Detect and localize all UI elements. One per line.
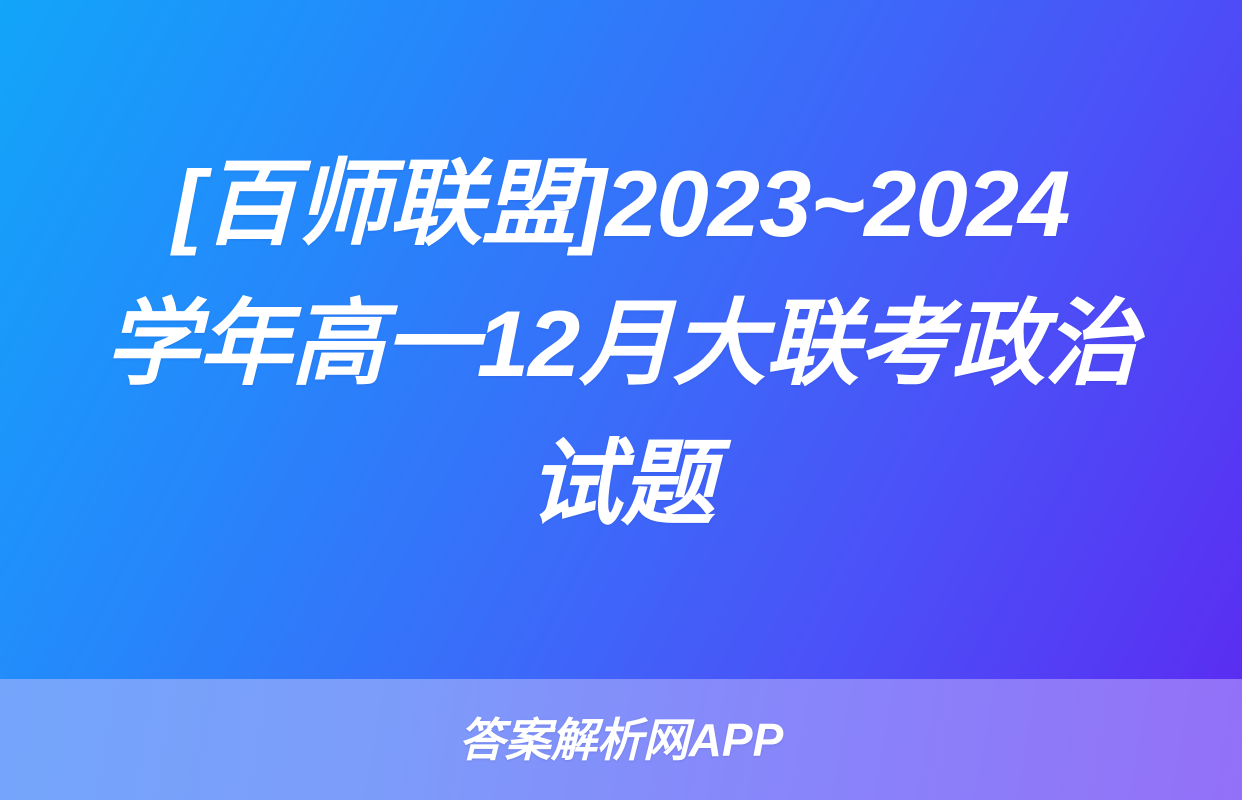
hero-banner: [百师联盟]2023~2024 学年高一12月大联考政治 试题 (0, 0, 1242, 679)
exam-title-block: [百师联盟]2023~2024 学年高一12月大联考政治 试题 (91, 126, 1151, 554)
exam-title-line-2: 学年高一12月大联考政治 (91, 274, 1151, 414)
exam-title-line-3: 试题 (91, 414, 1151, 554)
app-watermark-label: 答案解析网APP (459, 712, 784, 768)
footer-watermark-band: 答案解析网APP (0, 679, 1242, 800)
exam-cover-screenshot: [百师联盟]2023~2024 学年高一12月大联考政治 试题 答案解析网APP (0, 0, 1242, 800)
exam-title-line-1: [百师联盟]2023~2024 (91, 134, 1151, 274)
